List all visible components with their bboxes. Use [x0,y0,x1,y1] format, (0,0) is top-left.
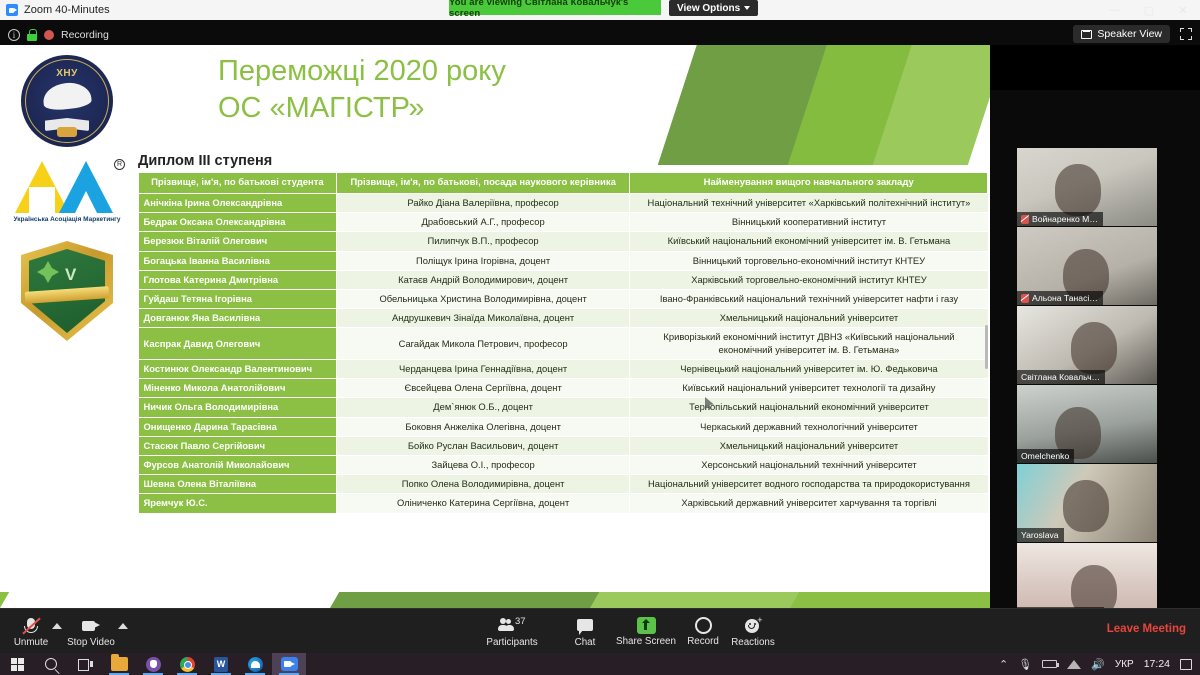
volume-icon[interactable]: 🔊 [1091,658,1105,671]
cell-institution: Вінницький кооперативний інститут [630,213,988,232]
participant-name-label: Omelchenko [1017,449,1074,463]
table-header-row: Прізвище, ім'я, по батькові студента Прі… [139,173,988,193]
participants-count: 37 [515,616,526,627]
participant-tile[interactable]: Omelchenko [1017,385,1157,463]
meeting-status-group: i Recording [8,25,109,45]
view-controls-group: Speaker View [1073,24,1192,44]
window-controls: — ▢ ✕ [1098,0,1200,20]
page-title: Переможці 2020 року ОС «МАГІСТР» [218,53,738,127]
shield-emblem-logo: V [21,241,113,341]
winners-table: Прізвище, ім'я, по батькові студента Прі… [138,173,988,514]
battery-icon[interactable] [1042,660,1057,668]
cell-student: Шевна Олена Віталіївна [139,475,337,494]
speaker-view-icon [1081,30,1092,39]
participants-button[interactable]: 37 Participants [481,612,543,652]
table-row: Глотова Катерина ДмитрівнаКатаєв Андрій … [139,270,988,289]
uam-logo-caption: Українська Асоціація Маркетингу [9,216,125,223]
table-row: Гуйдаш Тетяна ІгорівнаОбельницька Христи… [139,289,988,308]
zoom-taskbar-icon[interactable] [272,653,306,675]
cell-student: Глотова Катерина Дмитрівна [139,270,337,289]
cell-institution: Харківський державний університет харчув… [630,494,988,513]
window-title: Zoom 40-Minutes [24,4,110,16]
cell-student: Яремчук Ю.С. [139,494,337,513]
university-logo-abbr: ХНУ [21,68,113,79]
microphone-muted-icon [1021,294,1029,303]
slide-decoration-bottom-2 [300,592,609,608]
system-clock[interactable]: 17:24 [1144,658,1170,670]
column-header-student: Прізвище, ім'я, по батькові студента [139,173,337,193]
viewing-screen-banner: You are viewing Світлана Ковальчук's scr… [449,0,661,15]
participant-tile[interactable]: Войнаренко М… [1017,148,1157,226]
recording-indicator-icon [44,30,54,40]
slide-logos: ХНУ R Українська Асоціація Маркетингу [8,53,126,341]
view-options-button[interactable]: View Options [669,0,758,16]
share-screen-icon [637,617,656,634]
table-row: Анічкіна Ірина ОлександрівнаРайко Діана … [139,193,988,212]
stop-video-button-label: Stop Video [67,637,115,648]
cell-institution: Національний технічний університет «Харк… [630,193,988,212]
mute-button-label: Unmute [14,637,48,648]
share-screen-button-label: Share Screen [616,636,676,647]
cell-student: Довганюк Яна Василівна [139,309,337,328]
cell-student: Березюк Віталій Олегович [139,232,337,251]
cell-institution: Криворізький економічний інститут ДВНЗ «… [630,328,988,359]
record-button-label: Record [687,636,719,647]
search-icon[interactable] [34,653,68,675]
system-tray: ⌃ 🎙 🔊 УКР 17:24 [999,653,1200,675]
chevron-down-icon [744,6,750,10]
cell-institution: Чернівецький національний університет ім… [630,359,988,378]
cell-supervisor: Поліщук Ірина Ігорівна, доцент [336,251,630,270]
cell-student: Костинюк Олександр Валентинович [139,359,337,378]
cell-institution: Івано-Франківський національний технічни… [630,289,988,308]
chat-icon [575,617,595,635]
shield-letter: V [65,265,76,285]
show-hidden-icons-chevron[interactable]: ⌃ [999,658,1008,671]
winners-table-body: Анічкіна Ірина ОлександрівнаРайко Діана … [139,193,988,513]
cell-supervisor: Оліниченко Катерина Сергіївна, доцент [336,494,630,513]
share-screen-button[interactable]: Share Screen [615,612,677,652]
minimize-button[interactable]: — [1098,0,1132,20]
cell-institution: Херсонський національний технічний уніве… [630,455,988,474]
keyboard-language-indicator[interactable]: УКР [1115,659,1134,670]
participant-name-label: Войнаренко М… [1017,212,1103,226]
leave-meeting-button[interactable]: Leave Meeting [1107,623,1186,635]
cell-supervisor: Драбовський А.Г., професор [336,213,630,232]
reactions-button-label: Reactions [731,637,775,648]
reactions-icon: + [744,617,763,635]
reactions-button[interactable]: + Reactions [722,612,784,652]
info-icon[interactable]: i [8,29,20,41]
ukrainian-marketing-association-logo: R Українська Асоціація Маркетингу [9,161,125,223]
zoom-meeting-window: Zoom 40-Minutes — ▢ ✕ You are viewing Св… [0,0,1200,675]
cell-institution: Харківський торговельно-економічний інст… [630,270,988,289]
viber-icon[interactable] [136,653,170,675]
zoom-icon [6,4,18,16]
cell-institution: Хмельницький національний університет [630,436,988,455]
cell-student: Фурсов Анатолій Миколайович [139,455,337,474]
cell-supervisor: Зайцева О.І., професор [336,455,630,474]
table-row: Фурсов Анатолій МиколайовичЗайцева О.І.,… [139,455,988,474]
cell-student: Бедрак Оксана Олександрівна [139,213,337,232]
table-row: Шевна Олена ВіталіївнаПопко Олена Володи… [139,475,988,494]
cell-student: Каспрак Давид Олегович [139,328,337,359]
slide-title-line-1: Переможці 2020 року [218,53,738,90]
microphone-muted-icon [1021,215,1029,224]
participant-filmstrip: Войнаренко М…Альона Танасі…Світлана Кова… [990,90,1200,653]
view-options-label: View Options [677,3,740,14]
participant-name-label: Yaroslava [1017,528,1064,542]
maximize-button[interactable]: ▢ [1132,0,1166,20]
cell-supervisor: Бойко Руслан Васильович, доцент [336,436,630,455]
cell-institution: Національний університет водного господа… [630,475,988,494]
participant-tile[interactable]: Світлана Ковальч… [1017,306,1157,384]
table-row: Довганюк Яна ВасилівнаАндрушкевич Зінаїд… [139,309,988,328]
close-button[interactable]: ✕ [1166,0,1200,20]
slide-scrollbar[interactable] [985,325,988,369]
slide-title-line-2: ОС «МАГІСТР» [218,90,738,127]
stop-video-button[interactable]: Stop Video [60,612,122,652]
fullscreen-icon[interactable] [1180,28,1192,40]
slide-decoration-bottom-3 [590,592,799,608]
cell-supervisor: Райко Діана Валеріївна, професор [336,193,630,212]
table-row: Стасюк Павло СергійовичБойко Руслан Васи… [139,436,988,455]
cell-institution: Вінницький торговельно-економічний інсти… [630,251,988,270]
participant-name: Войнаренко М… [1032,214,1098,224]
record-icon [695,617,712,634]
participant-name: Yaroslava [1021,530,1059,540]
cell-supervisor: Катаєв Андрій Володимирович, доцент [336,270,630,289]
word-icon[interactable]: W [204,653,238,675]
cell-supervisor: Черданцева Ірина Геннадіївна, доцент [336,359,630,378]
participant-tile[interactable]: Альона Танасі… [1017,227,1157,305]
participant-name: Альона Танасі… [1032,293,1098,303]
cell-supervisor: Обельницька Христина Володимирівна, доце… [336,289,630,308]
shared-screen-stage: ХНУ R Українська Асоціація Маркетингу [0,45,1200,608]
cell-student: Стасюк Павло Сергійович [139,436,337,455]
table-row: Онищенко Дарина ТарасівнаБоковня Анжелік… [139,417,988,436]
table-row: Бедрак Оксана ОлександрівнаДрабовський А… [139,213,988,232]
chat-button-label: Chat [575,637,596,648]
cell-student: Богацька Іванна Василівна [139,251,337,270]
table-row: Ничик Ольга ВолодимирівнаДем`янюк О.Б., … [139,398,988,417]
recording-label: Recording [61,29,109,41]
cell-supervisor: Попко Олена Володимирівна, доцент [336,475,630,494]
word-icon-letter: W [214,657,228,672]
slide-decoration-bottom-4 [0,592,339,608]
cell-student: Ничик Ольга Володимирівна [139,398,337,417]
cell-supervisor: Пилипчук В.П., професор [336,232,630,251]
speaker-view-button[interactable]: Speaker View [1073,25,1170,43]
participant-name-label: Світлана Ковальч… [1017,370,1105,384]
cell-institution: Київський національний економічний уніве… [630,232,988,251]
table-row: Богацька Іванна ВасилівнаПоліщук Ірина І… [139,251,988,270]
video-options-caret[interactable] [116,619,130,633]
column-header-institution: Найменування вищого навчального закладу [630,173,988,193]
task-view-icon[interactable] [68,653,102,675]
cell-supervisor: Сагайдак Микола Петрович, професор [336,328,630,359]
meeting-toolbar: Unmute Stop Video 37 Participants Chat [0,608,1200,653]
table-row: Каспрак Давид ОлеговичСагайдак Микола Пе… [139,328,988,359]
table-row: Березюк Віталій ОлеговичПилипчук В.П., п… [139,232,988,251]
file-explorer-icon[interactable] [102,653,136,675]
chevron-up-icon [118,623,128,629]
cell-institution: Тернопільський національний економічний … [630,398,988,417]
edge-icon[interactable] [238,653,272,675]
column-header-supervisor: Прізвище, ім'я, по батькові, посада наук… [336,173,630,193]
notifications-icon[interactable] [1180,659,1192,670]
start-button[interactable] [0,653,34,675]
cell-institution: Черкаський державний технологічний уніве… [630,417,988,436]
cell-student: Онищенко Дарина Тарасівна [139,417,337,436]
khmelnytskyi-national-university-logo: ХНУ [21,55,113,147]
cell-supervisor: Боковня Анжеліка Олегівна, доцент [336,417,630,436]
table-row: Міненко Микола АнатолійовичЄвсейцева Оле… [139,379,988,398]
table-row: Яремчук Ю.С.Оліниченко Катерина Сергіївн… [139,494,988,513]
cell-supervisor: Андрушкевич Зінаїда Миколаївна, доцент [336,309,630,328]
cell-supervisor: Євсейцева Олена Сергіївна, доцент [336,379,630,398]
meeting-top-bar [0,20,1200,45]
participant-name: Omelchenko [1021,451,1069,461]
cell-institution: Хмельницький національний університет [630,309,988,328]
microphone-tray-icon[interactable]: 🎙 [1018,658,1032,671]
microphone-muted-icon [21,617,41,635]
participants-icon: 37 [499,617,525,635]
table-row: Костинюк Олександр ВалентиновичЧерданцев… [139,359,988,378]
cell-student: Міненко Микола Анатолійович [139,379,337,398]
slide-subtitle: Диплом III ступеня [138,153,272,169]
cell-supervisor: Дем`янюк О.Б., доцент [336,398,630,417]
wifi-icon[interactable] [1067,660,1081,669]
participant-name: Світлана Ковальч… [1021,372,1100,382]
cell-institution: Київський національний університет техно… [630,379,988,398]
windows-taskbar: W ⌃ 🎙 🔊 УКР 17:24 [0,653,1200,675]
chrome-icon[interactable] [170,653,204,675]
lock-icon [27,29,37,41]
registered-trademark-icon: R [114,159,125,170]
participants-button-label: Participants [486,637,537,648]
presentation-slide: ХНУ R Українська Асоціація Маркетингу [0,45,990,608]
cell-student: Анічкіна Ірина Олександрівна [139,193,337,212]
participant-tile[interactable]: Yaroslava [1017,464,1157,542]
participant-name-label: Альона Танасі… [1017,291,1103,305]
speaker-view-label: Speaker View [1097,28,1162,40]
cell-student: Гуйдаш Тетяна Ігорівна [139,289,337,308]
video-camera-icon [81,617,101,635]
chat-button[interactable]: Chat [554,612,616,652]
